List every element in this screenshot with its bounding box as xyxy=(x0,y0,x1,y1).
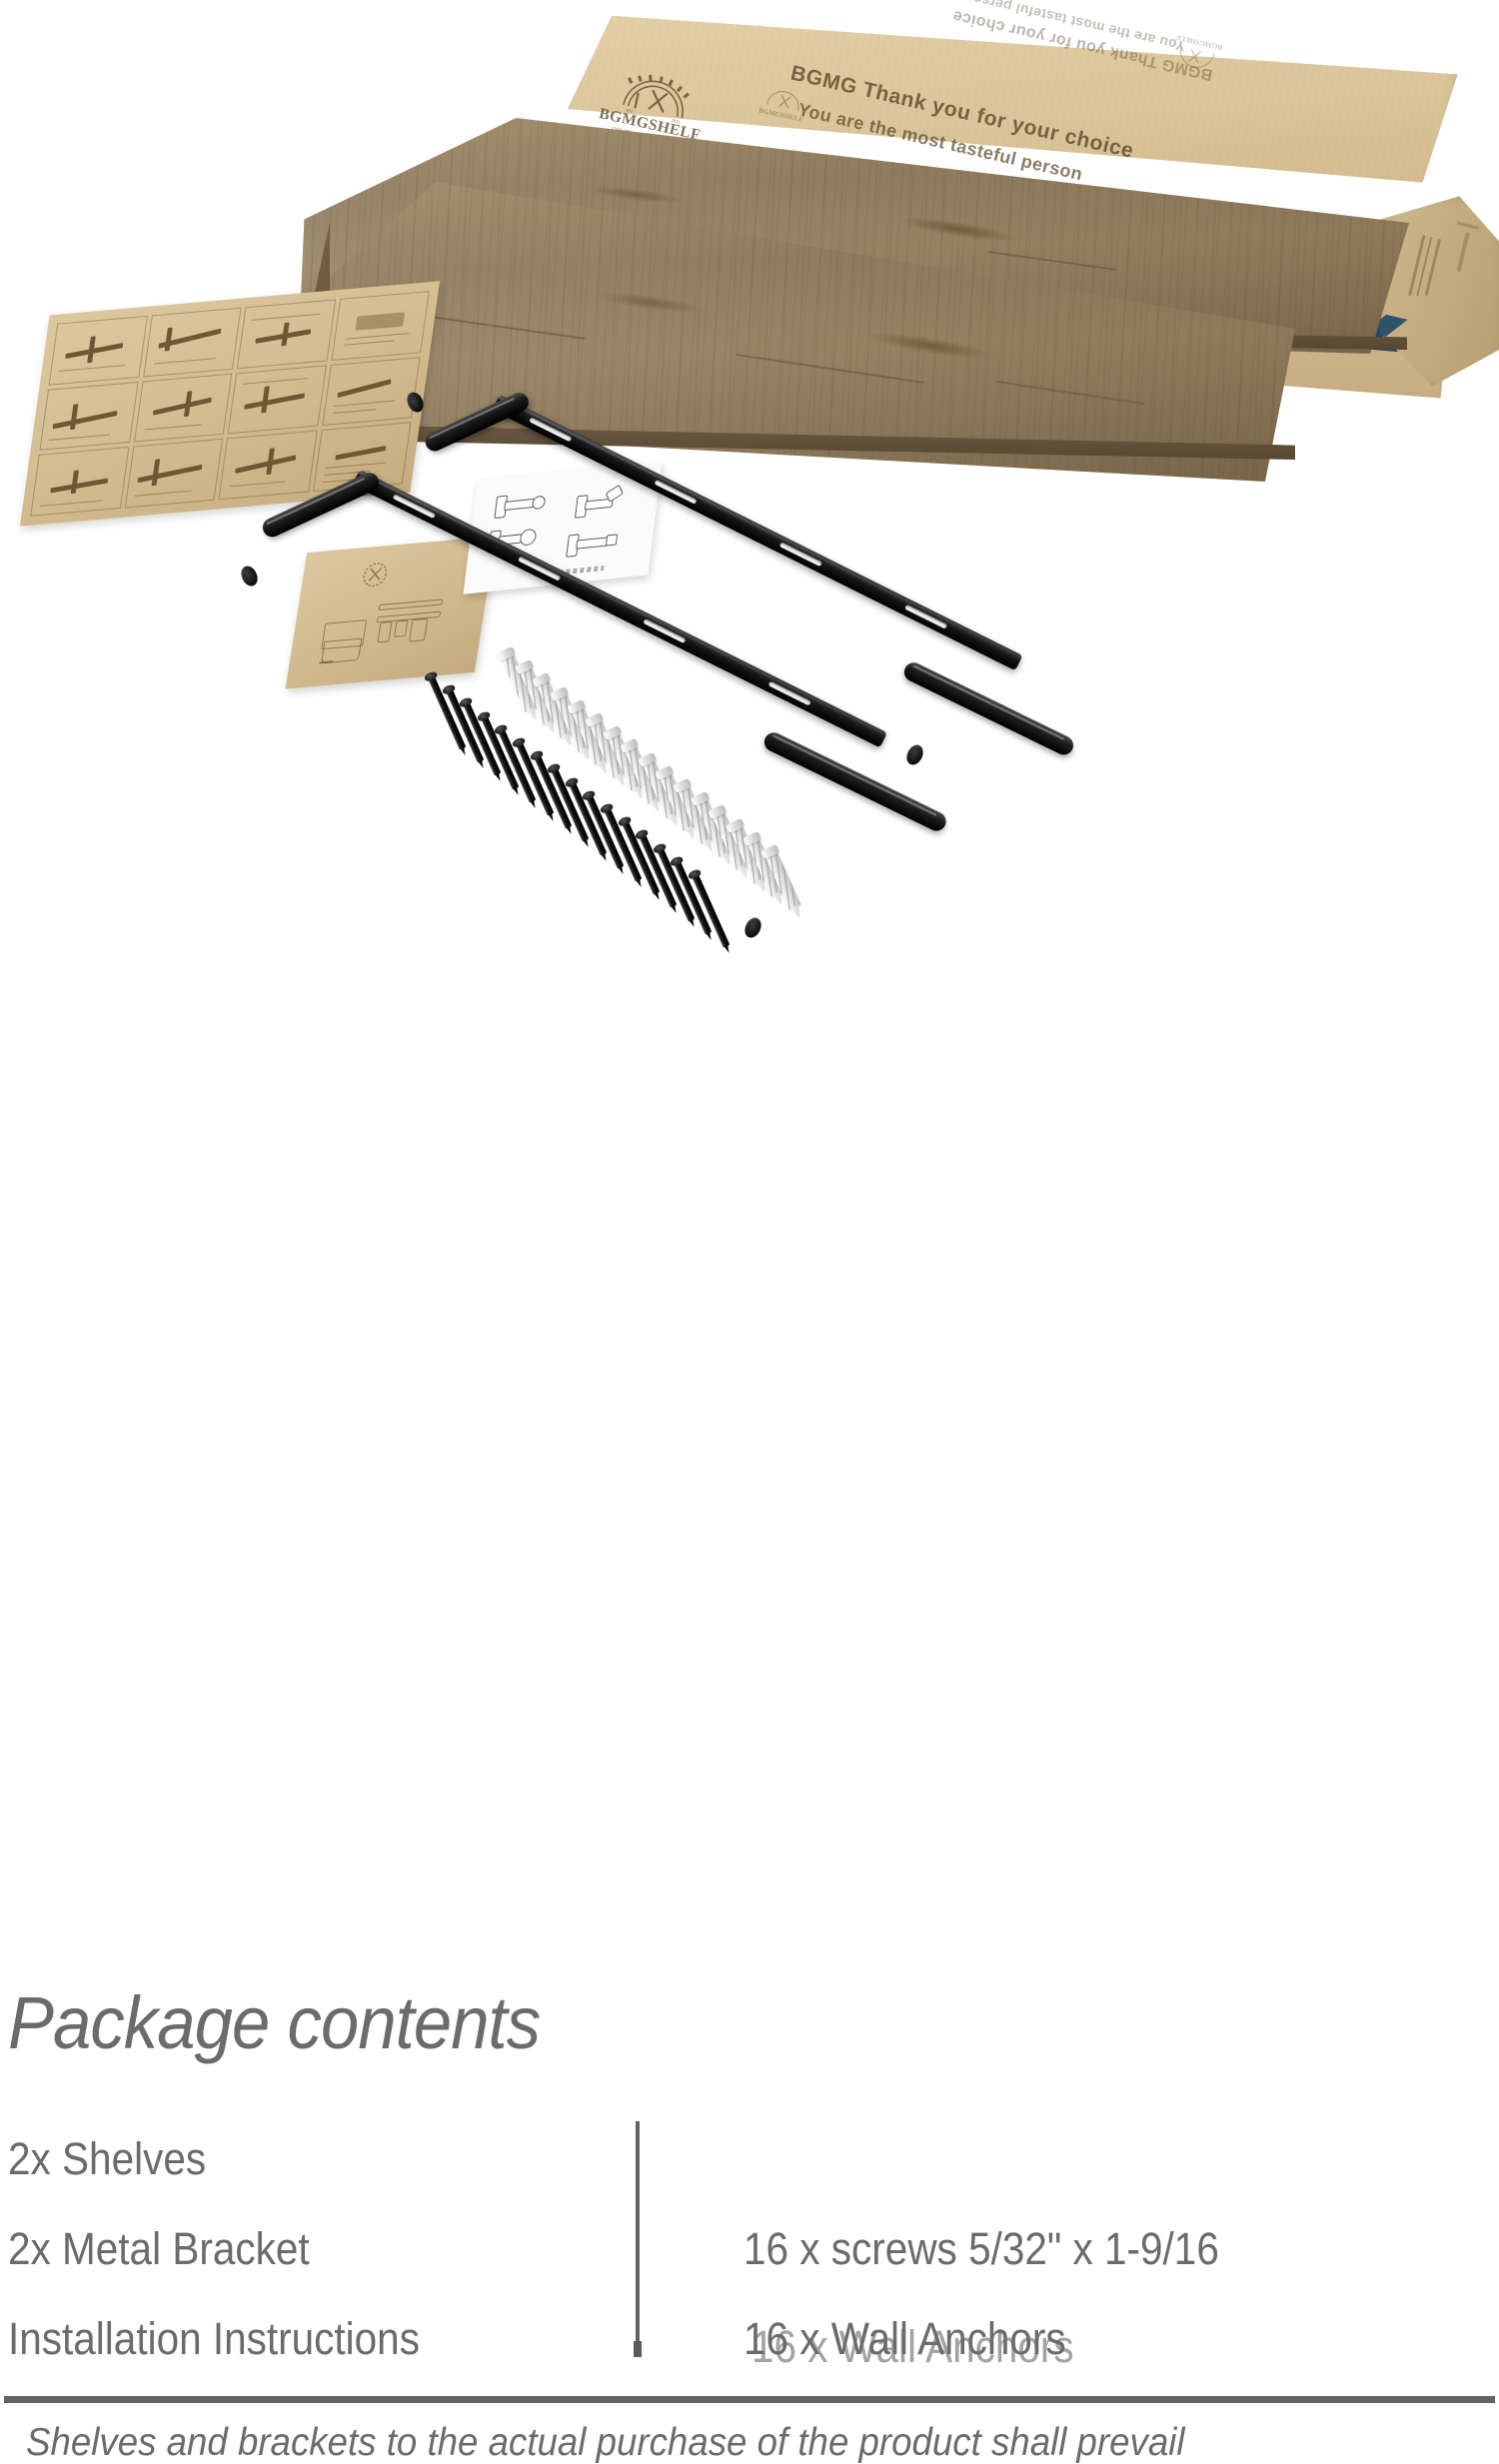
instruction-cell xyxy=(237,299,336,369)
screw-tip xyxy=(513,786,520,795)
instruction-cell xyxy=(218,431,317,501)
bracket-rear-prong-bottom-cap xyxy=(903,742,926,767)
kraft-card xyxy=(286,537,497,689)
screw-tip xyxy=(725,945,732,954)
bracket-front-prong-bottom-cap xyxy=(742,915,764,940)
column-divider xyxy=(636,2121,640,2349)
screw-head xyxy=(652,841,667,854)
screw-head xyxy=(529,749,544,762)
screw-head xyxy=(564,775,579,788)
screw-head xyxy=(476,709,491,722)
screw-head xyxy=(670,855,685,868)
kraft-card-drawing-5 xyxy=(377,621,392,642)
screw-tip xyxy=(584,839,591,848)
list-item-metal-bracket: 2x Metal Bracket xyxy=(8,2226,310,2271)
package-contents-panel: Package contents 2x Shelves 2x Metal Bra… xyxy=(0,984,1499,1495)
screw-tip xyxy=(531,800,538,809)
screw-tip xyxy=(461,747,468,756)
bracket-front-prong-top-cap xyxy=(238,564,260,589)
screw-tip xyxy=(619,866,626,875)
footnote: Shelves and brackets to the actual purch… xyxy=(26,2423,1185,2462)
screw-tip xyxy=(654,892,661,901)
screw-tip xyxy=(478,760,485,769)
instruction-cell xyxy=(30,447,129,517)
instruction-cell xyxy=(124,439,223,509)
instruction-cell xyxy=(134,373,233,443)
list-item-wall-anchors: 16 x Wall Anchors xyxy=(744,2316,1066,2361)
kraft-card-stamp-icon xyxy=(356,559,395,593)
screw-tip xyxy=(549,813,556,822)
screw-tip xyxy=(566,826,573,835)
kraft-card-drawing-3 xyxy=(379,599,444,611)
instruction-cell xyxy=(228,365,327,435)
bracket-front-prong-bottom xyxy=(761,729,949,834)
list-item-installation-instructions: Installation Instructions xyxy=(8,2316,420,2361)
screw-tip xyxy=(496,773,503,782)
instruction-cell xyxy=(49,316,148,386)
list-item-screws: 16 x screws 5/32" x 1-9/16 xyxy=(744,2226,1219,2271)
instruction-cell xyxy=(322,357,421,427)
screw-tip xyxy=(689,918,696,927)
screw-head xyxy=(441,683,456,696)
page-title: Package contents xyxy=(8,1986,540,2060)
screw-tip xyxy=(637,879,644,888)
screw-tip xyxy=(707,932,714,941)
kraft-card-drawing-7 xyxy=(409,618,428,642)
kraft-card-drawing-2 xyxy=(321,638,362,664)
screw-head xyxy=(600,802,615,815)
kraft-card-signature xyxy=(319,660,333,663)
screw-tip xyxy=(672,905,679,914)
instruction-cell xyxy=(39,382,138,452)
horizontal-rule xyxy=(4,2396,1495,2403)
product-photo: BGMGSHELF CREATING BEAUTY IN WOOD EST. 2… xyxy=(0,0,1499,984)
screw-head xyxy=(512,736,527,749)
column-divider-tick xyxy=(634,2341,642,2357)
screw-head xyxy=(688,868,703,881)
screw-tip xyxy=(601,852,608,861)
instruction-cell xyxy=(331,291,430,361)
instruction-cell xyxy=(143,308,242,378)
list-item-shelves: 2x Shelves xyxy=(8,2136,206,2181)
kraft-card-drawing-6 xyxy=(394,620,409,637)
screw-head xyxy=(617,815,632,828)
screw-head xyxy=(582,789,597,802)
bracket-rear-prong-bottom xyxy=(901,659,1077,758)
screw-head xyxy=(494,723,509,736)
